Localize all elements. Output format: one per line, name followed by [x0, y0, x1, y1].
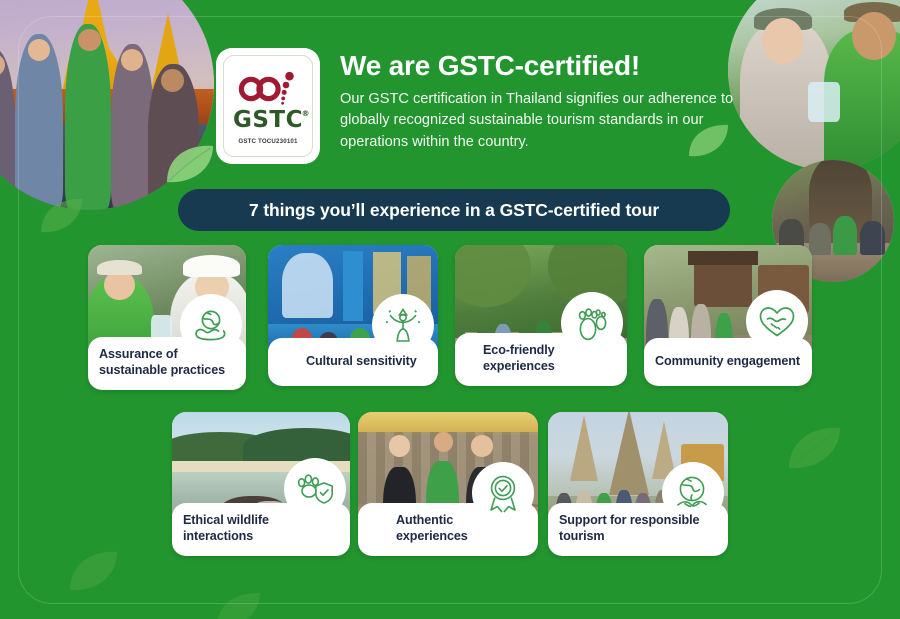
card-label: Assurance of sustainable practices: [99, 346, 235, 379]
card-label: Ethical wildlife interactions: [183, 512, 339, 545]
photo-circle-guides-sharing-water: [728, 0, 900, 170]
card-label: Cultural sensitivity: [306, 353, 417, 370]
feature-card[interactable]: Assurance of sustainable practices: [88, 245, 246, 390]
infinity-dots-icon: [237, 72, 299, 106]
leaf-decoration-icon: [785, 424, 843, 472]
feature-card[interactable]: Authentic experiences: [358, 412, 538, 556]
certification-code: GSTC TOCU230101: [238, 138, 297, 145]
paw-shield-icon: [284, 458, 346, 520]
feature-card[interactable]: Community engagement: [644, 245, 812, 386]
page-title: We are GSTC-certified!: [340, 50, 740, 82]
feature-card[interactable]: Eco-friendly experiences: [455, 245, 627, 386]
handshake-heart-icon: [746, 290, 808, 352]
header-section: GSTC® GSTC TOCU230101 We are GSTC-certif…: [216, 48, 740, 164]
registered-mark: ®: [302, 110, 311, 118]
banner-label: 7 things you’ll experience in a GSTC-cer…: [249, 200, 659, 221]
feature-card[interactable]: Support for responsible tourism: [548, 412, 728, 556]
feature-card[interactable]: Cultural sensitivity: [268, 245, 438, 386]
card-label: Authentic experiences: [396, 512, 527, 545]
infographic-poster: GSTC® GSTC TOCU230101 We are GSTC-certif…: [0, 0, 900, 619]
card-label: Community engagement: [655, 353, 800, 370]
thai-dancer-icon: [372, 294, 434, 356]
card-label: Eco-friendly experiences: [483, 342, 616, 375]
leaf-decoration-icon: [214, 590, 262, 619]
feature-card[interactable]: Ethical wildlife interactions: [172, 412, 350, 556]
page-description: Our GSTC certification in Thailand signi…: [340, 89, 740, 152]
section-banner: 7 things you’ll experience in a GSTC-cer…: [178, 189, 730, 231]
card-label: Support for responsible tourism: [559, 512, 717, 545]
photo-circle-wat-arun: [0, 0, 214, 210]
gstc-wordmark: GSTC®: [233, 109, 303, 132]
gstc-certification-badge: GSTC® GSTC TOCU230101: [216, 48, 320, 164]
leaf-decoration-icon: [66, 548, 120, 594]
